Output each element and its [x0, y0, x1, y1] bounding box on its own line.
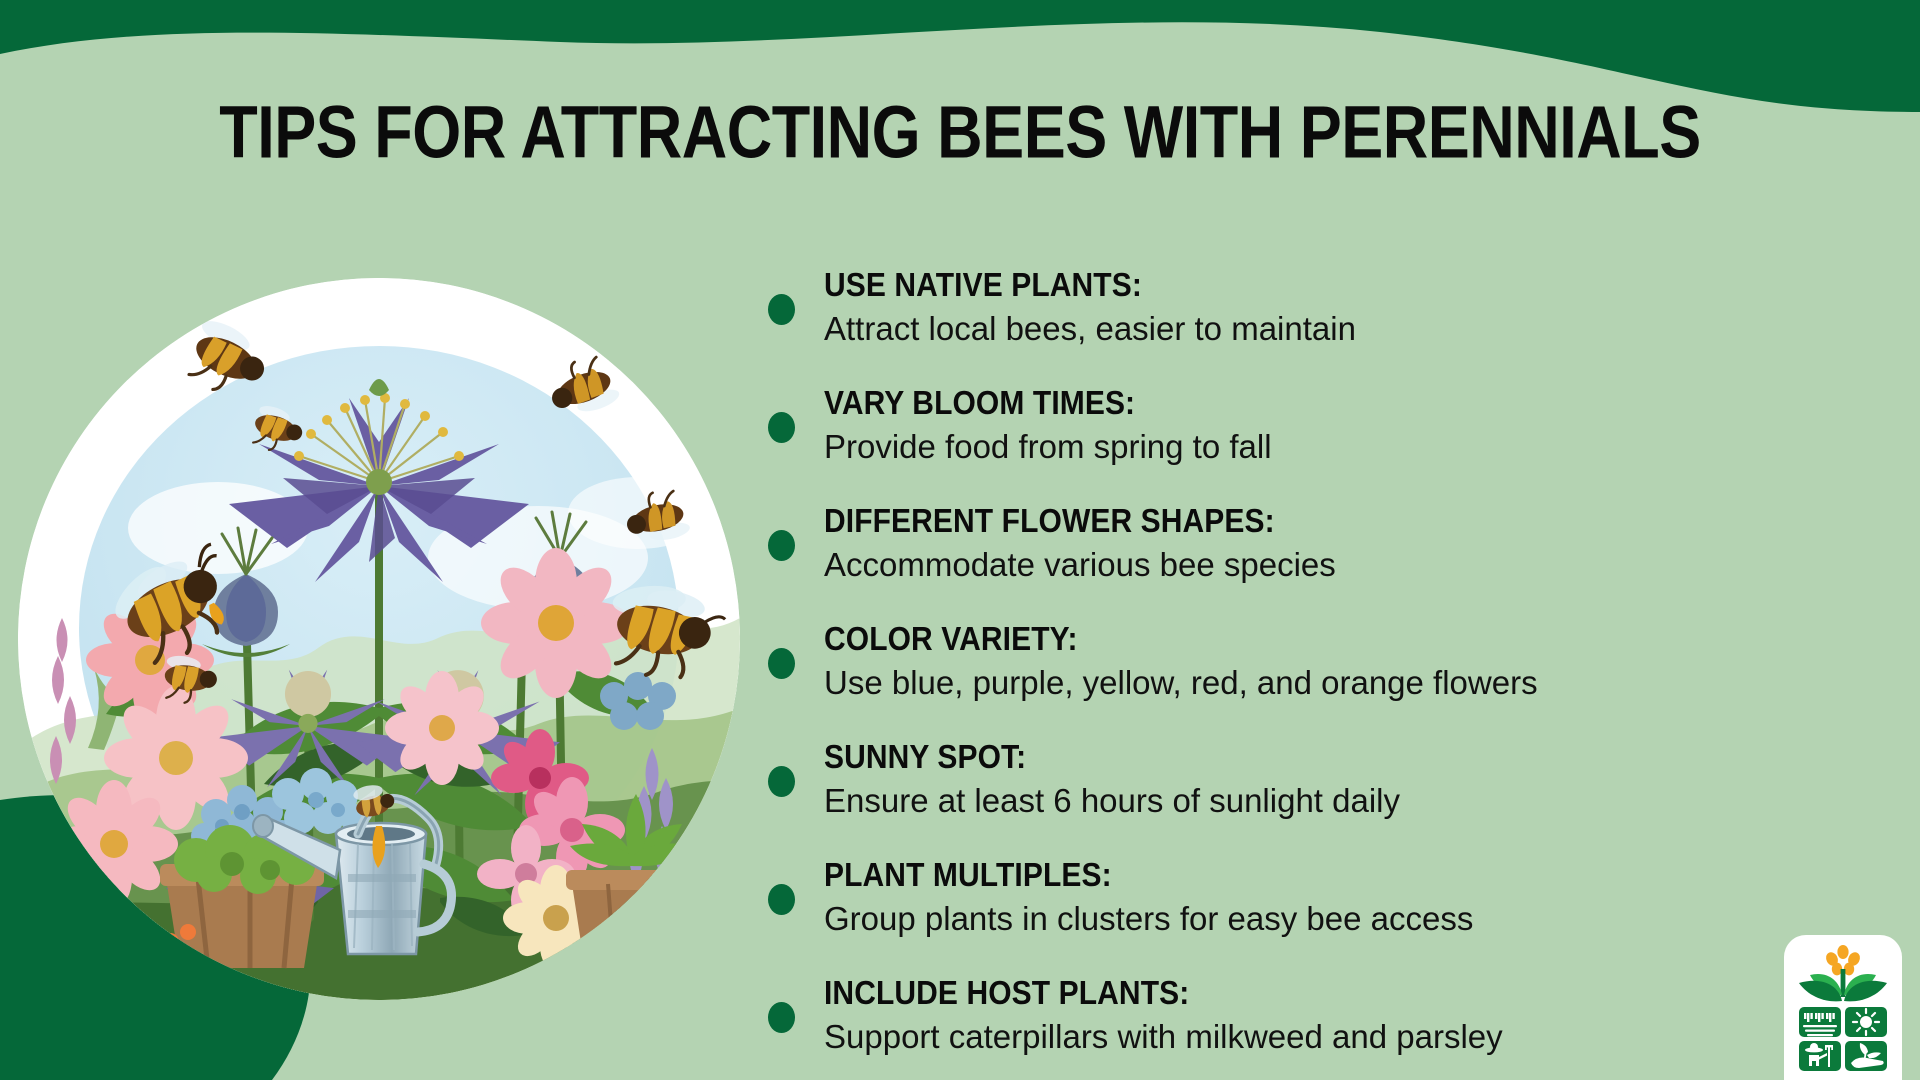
tip-description: Attract local bees, easier to maintain: [824, 308, 1828, 351]
tip-description: Group plants in clusters for easy bee ac…: [824, 898, 1828, 941]
illustration-content: [18, 278, 740, 1000]
tip-item: INCLUDE HOST PLANTS: Support caterpillar…: [768, 958, 1828, 1076]
tip-text-block: VARY BLOOM TIMES: Provide food from spri…: [824, 385, 1828, 469]
bullet-icon: [768, 648, 795, 679]
page-title: TIPS FOR ATTRACTING BEES WITH PERENNIALS: [0, 96, 1920, 170]
logo-badge: [1784, 935, 1902, 1080]
sun-icon: [1853, 1009, 1879, 1035]
tip-title: COLOR VARIETY:: [824, 619, 1828, 661]
tip-item: DIFFERENT FLOWER SHAPES: Accommodate var…: [768, 486, 1828, 604]
bullet-icon: [768, 884, 795, 915]
tip-text-block: USE NATIVE PLANTS: Attract local bees, e…: [824, 267, 1828, 351]
tip-title: PLANT MULTIPLES:: [824, 855, 1828, 897]
tip-text-block: COLOR VARIETY: Use blue, purple, yellow,…: [824, 621, 1828, 705]
tip-item: SUNNY SPOT: Ensure at least 6 hours of s…: [768, 722, 1828, 840]
cloud: [568, 477, 708, 549]
bullet-icon: [768, 530, 795, 561]
bullet-icon: [768, 766, 795, 797]
tip-text-block: DIFFERENT FLOWER SHAPES: Accommodate var…: [824, 503, 1828, 587]
tip-item: VARY BLOOM TIMES: Provide food from spri…: [768, 368, 1828, 486]
tip-title: VARY BLOOM TIMES:: [824, 383, 1828, 425]
garden-illustration: [18, 278, 740, 1000]
tip-title: SUNNY SPOT:: [824, 737, 1828, 779]
tip-text-block: INCLUDE HOST PLANTS: Support caterpillar…: [824, 975, 1828, 1059]
tip-title: USE NATIVE PLANTS:: [824, 265, 1828, 307]
bullet-icon: [768, 412, 795, 443]
tip-description: Ensure at least 6 hours of sunlight dail…: [824, 780, 1828, 823]
bullet-icon: [768, 1002, 795, 1033]
tip-item: COLOR VARIETY: Use blue, purple, yellow,…: [768, 604, 1828, 722]
tip-description: Use blue, purple, yellow, red, and orang…: [824, 662, 1828, 705]
tip-title: INCLUDE HOST PLANTS:: [824, 973, 1828, 1015]
stamens: [285, 671, 331, 717]
tip-text-block: SUNNY SPOT: Ensure at least 6 hours of s…: [824, 739, 1828, 823]
tips-list: USE NATIVE PLANTS: Attract local bees, e…: [768, 250, 1828, 1076]
tip-text-block: PLANT MULTIPLES: Group plants in cluster…: [824, 857, 1828, 941]
bullet-icon: [768, 294, 795, 325]
tile-farmer: [1799, 1041, 1841, 1071]
agriculture-logo-icon: [1795, 945, 1891, 1071]
tip-description: Provide food from spring to fall: [824, 426, 1828, 469]
tip-description: Accommodate various bee species: [824, 544, 1828, 587]
tip-item: USE NATIVE PLANTS: Attract local bees, e…: [768, 250, 1828, 368]
tip-description: Support caterpillars with milkweed and p…: [824, 1016, 1828, 1059]
tip-title: DIFFERENT FLOWER SHAPES:: [824, 501, 1828, 543]
tip-item: PLANT MULTIPLES: Group plants in cluster…: [768, 840, 1828, 958]
